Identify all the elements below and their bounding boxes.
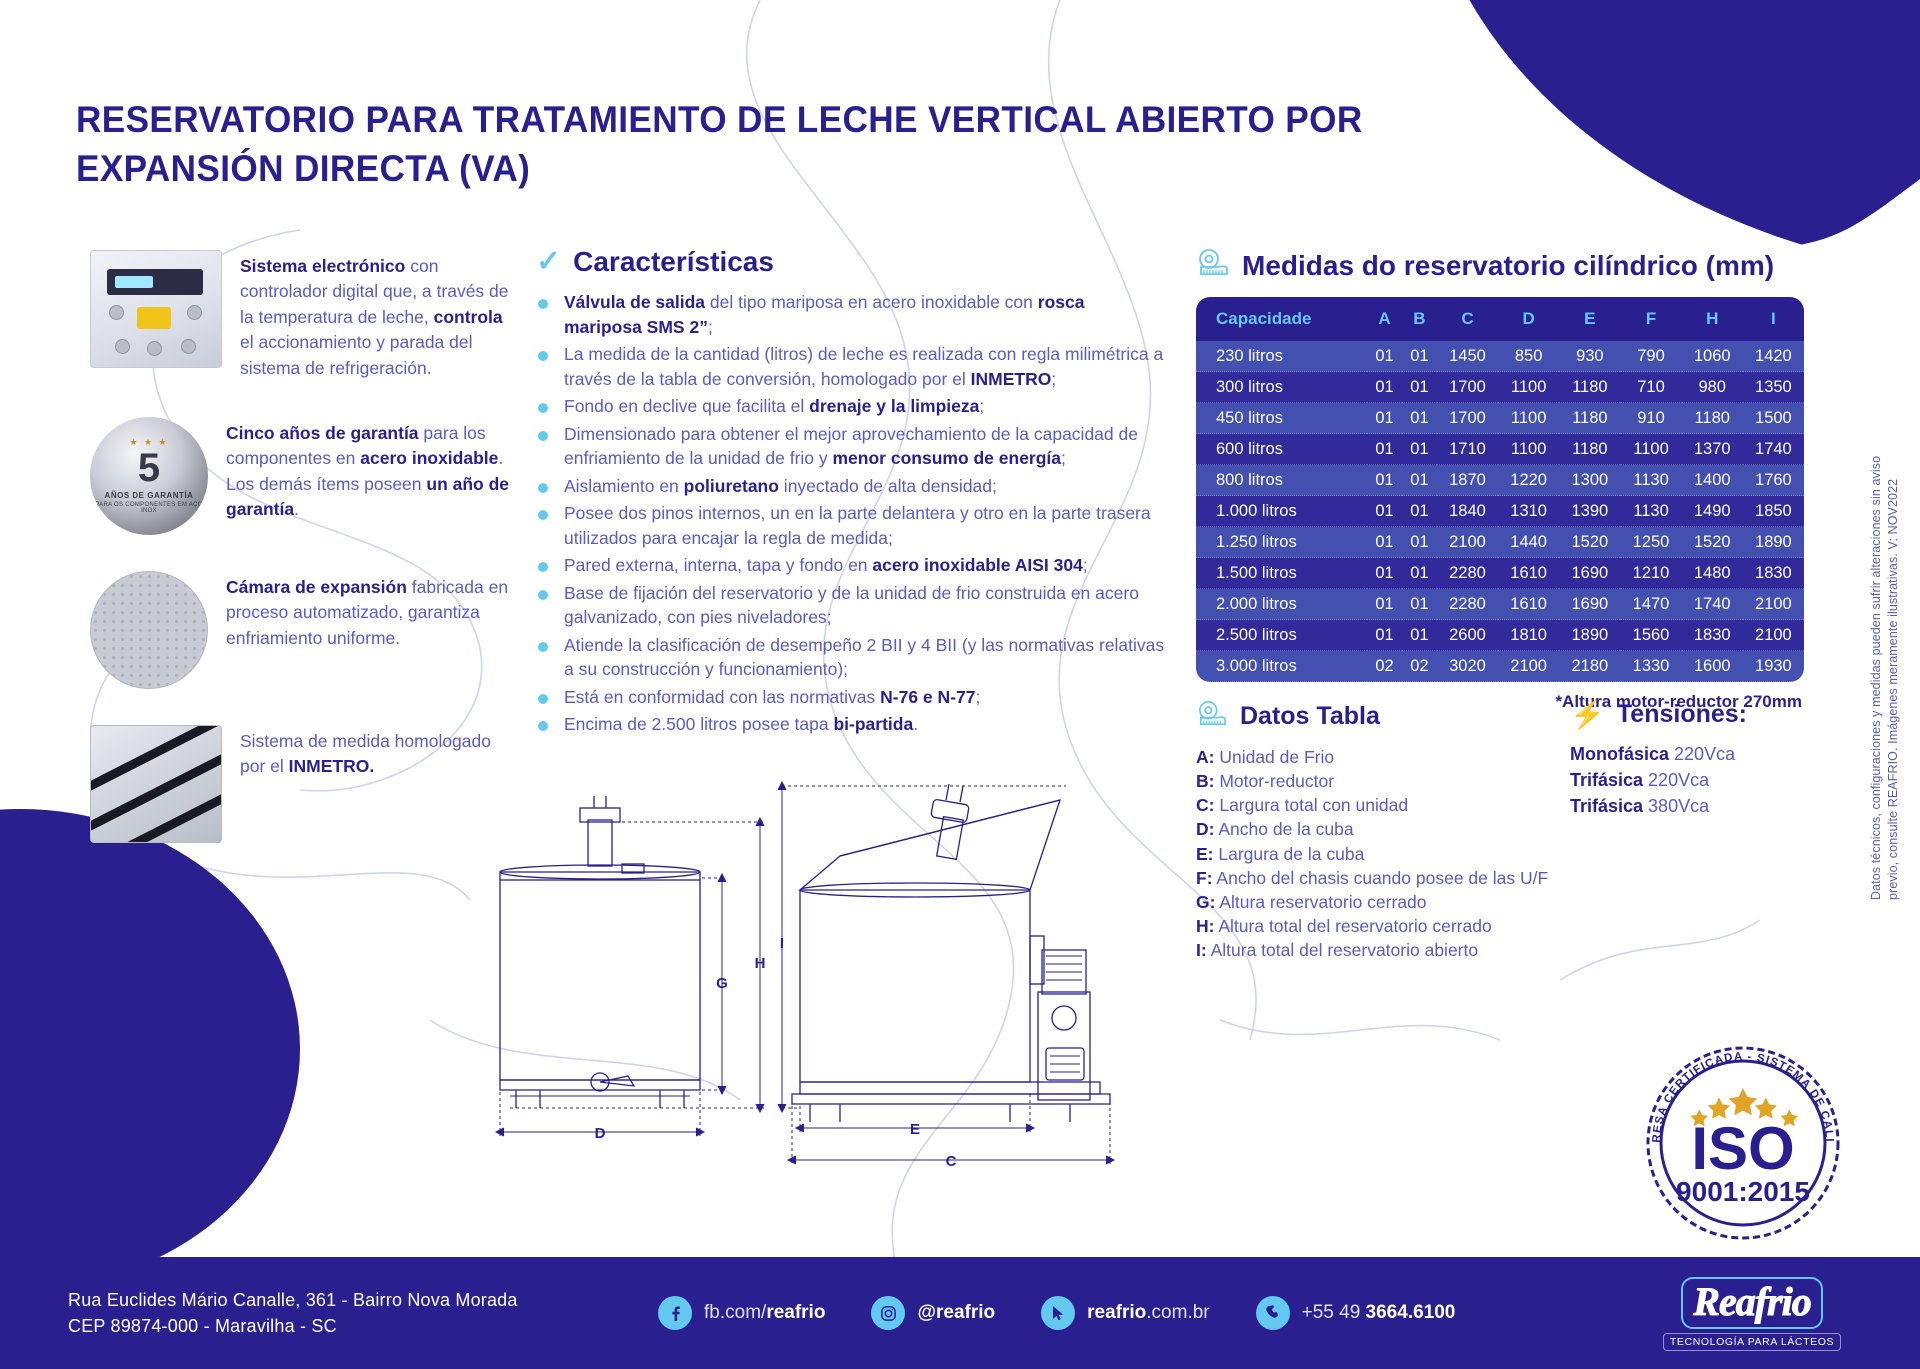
table-cell: 1100 [1498, 403, 1559, 434]
table-cell-capacity: 300 litros [1196, 372, 1367, 403]
characteristic-item: Encima de 2.500 litros posee tapa bi-par… [536, 712, 1166, 737]
table-column-header: A [1367, 297, 1402, 341]
datasheet-page: RESERVATORIO PARA TRATAMIENTO DE LECHE V… [0, 0, 1920, 1369]
table-cell-capacity: 450 litros [1196, 403, 1367, 434]
check-icon: ✓ [536, 247, 561, 277]
table-row: 2.500 litros0101260018101890156018302100 [1196, 620, 1804, 651]
social-prefix: fb.com/ [704, 1302, 766, 1323]
dimension-H [510, 818, 764, 1112]
tape-measure-icon [1196, 248, 1230, 283]
legend-key: B: [1196, 771, 1214, 791]
table-row: 3.000 litros0202302021002180133016001930 [1196, 651, 1804, 682]
table-cell: 01 [1367, 465, 1402, 496]
label-D: D [595, 1125, 606, 1142]
table-cell: 2180 [1559, 651, 1620, 682]
table-cell: 1330 [1620, 651, 1681, 682]
phone-icon[interactable] [1256, 1296, 1290, 1330]
table-cell: 980 [1682, 372, 1743, 403]
medal-number: 5 [138, 448, 160, 488]
table-cell: 1560 [1620, 620, 1681, 651]
features-column: Sistema electrónico con controlador digi… [90, 250, 520, 879]
table-cell-capacity: 800 litros [1196, 465, 1367, 496]
table-cell: 930 [1559, 341, 1620, 372]
tension-item: Trifásica 380Vca [1570, 793, 1870, 819]
table-cell: 1500 [1743, 403, 1804, 434]
table-cell: 01 [1367, 527, 1402, 558]
table-row: 1.000 litros0101184013101390113014901850 [1196, 496, 1804, 527]
table-cell: 1480 [1682, 558, 1743, 589]
table-row: 450 litros010117001100118091011801500 [1196, 403, 1804, 434]
table-cell: 1370 [1682, 434, 1743, 465]
table-cell: 1610 [1498, 589, 1559, 620]
table-cell: 01 [1367, 496, 1402, 527]
feature-text: Cinco años de garantía para los componen… [226, 417, 520, 523]
table-column-header: D [1498, 297, 1559, 341]
table-cell: 01 [1367, 620, 1402, 651]
table-cell: 1180 [1559, 434, 1620, 465]
legend-text: Ancho de la cuba [1214, 819, 1353, 839]
legend-key: F: [1196, 868, 1213, 888]
table-column-header: C [1437, 297, 1498, 341]
table-cell: 02 [1367, 651, 1402, 682]
legend-text: Ancho del chasis cuando posee de las U/F [1213, 868, 1549, 888]
datos-tabla-legend: A: Unidad de FrioB: Motor-reductorC: Lar… [1196, 745, 1556, 962]
table-cell: 01 [1367, 558, 1402, 589]
table-cell: 850 [1498, 341, 1559, 372]
characteristic-item: Fondo en declive que facilita el drenaje… [536, 394, 1166, 419]
logo-pill: Reafrio [1681, 1277, 1822, 1329]
table-cell: 2280 [1437, 589, 1498, 620]
technical-drawing: G H D [470, 760, 1210, 1185]
tensiones-header: ⚡ Tensiones: [1570, 700, 1870, 729]
legend-key: H: [1196, 916, 1214, 936]
iso-label: ISO [1691, 1115, 1794, 1182]
tension-item: Monofásica 220Vca [1570, 741, 1870, 767]
table-cell: 2600 [1437, 620, 1498, 651]
dimension-I [778, 782, 1066, 1112]
table-cell: 1450 [1437, 341, 1498, 372]
feature-text: Sistema de medida homologado por el INME… [240, 725, 520, 780]
table-cell: 1420 [1743, 341, 1804, 372]
tension-label: Trifásica [1570, 796, 1643, 816]
decorative-blob-top-right [1420, 0, 1920, 280]
table-cell: 1300 [1559, 465, 1620, 496]
table-cell-capacity: 1.500 litros [1196, 558, 1367, 589]
table-cell: 790 [1620, 341, 1681, 372]
datos-tabla-section: Datos Tabla A: Unidad de FrioB: Motor-re… [1196, 700, 1556, 962]
table-cell: 1310 [1498, 496, 1559, 527]
tension-label: Trifásica [1570, 770, 1643, 790]
table-cell: 1830 [1682, 620, 1743, 651]
legend-text: Unidad de Frio [1214, 747, 1334, 767]
table-cell: 1390 [1559, 496, 1620, 527]
table-cell: 1610 [1498, 558, 1559, 589]
social-handle: reafrio [1087, 1302, 1146, 1323]
label-E: E [910, 1121, 920, 1138]
characteristics-list: Válvula de salida del tipo mariposa en a… [536, 290, 1166, 737]
address-line-1: Rua Euclides Mário Canalle, 361 - Bairro… [68, 1287, 588, 1313]
social-link-instagram[interactable]: @reafrio [871, 1296, 995, 1330]
table-cell: 2100 [1498, 651, 1559, 682]
table-cell: 01 [1367, 434, 1402, 465]
table-cell: 1180 [1682, 403, 1743, 434]
social-link-facebook[interactable]: fb.com/reafrio [658, 1296, 825, 1330]
logo-tagline: TECNOLOGÍA PARA LÁCTEOS [1663, 1333, 1841, 1351]
legend-text: Largura total con unidad [1214, 795, 1408, 815]
table-cell: 2100 [1437, 527, 1498, 558]
table-cell: 1520 [1559, 527, 1620, 558]
table-cell: 1870 [1437, 465, 1498, 496]
tensiones-section: ⚡ Tensiones: Monofásica 220VcaTrifásica … [1570, 700, 1870, 819]
legend-key: A: [1196, 747, 1214, 767]
table-cell: 1210 [1620, 558, 1681, 589]
table-cell: 02 [1402, 651, 1437, 682]
table-header-row: CapacidadeABCDEFHI [1196, 297, 1804, 341]
measures-header: Medidas do reservatorio cilíndrico (mm) [1196, 248, 1816, 283]
table-column-header: I [1743, 297, 1804, 341]
social-link-phone[interactable]: +55 49 3664.6100 [1256, 1296, 1456, 1330]
measures-table: CapacidadeABCDEFHI 230 litros01011450850… [1196, 297, 1804, 682]
characteristic-item: Atiende la clasificación de desempeño 2 … [536, 633, 1166, 682]
table-cell: 1740 [1743, 434, 1804, 465]
social-handle: reafrio [766, 1302, 825, 1323]
brand-logo: Reafrio TECNOLOGÍA PARA LÁCTEOS [1662, 1277, 1842, 1351]
social-link-label[interactable]: fb.com/reafrio [704, 1302, 825, 1324]
measures-section: Medidas do reservatorio cilíndrico (mm) … [1196, 248, 1816, 712]
tension-value: 220Vca [1643, 770, 1709, 790]
table-cell-capacity: 2.000 litros [1196, 589, 1367, 620]
table-cell: 01 [1402, 496, 1437, 527]
social-link-label[interactable]: +55 49 3664.6100 [1302, 1302, 1456, 1324]
legend-text: Motor-reductor [1214, 771, 1334, 791]
legend-item: G: Altura reservatorio cerrado [1196, 890, 1556, 914]
label-G: G [716, 975, 728, 992]
feature-measure-system: Sistema de medida homologado por el INME… [90, 725, 520, 843]
cursor-icon[interactable] [1041, 1296, 1075, 1330]
table-cell: 1180 [1559, 403, 1620, 434]
table-column-header: B [1402, 297, 1437, 341]
legend-item: H: Altura total del reservatorio cerrado [1196, 914, 1556, 938]
table-cell: 01 [1402, 620, 1437, 651]
table-cell: 1700 [1437, 403, 1498, 434]
section-title: Datos Tabla [1240, 702, 1380, 731]
social-link-label[interactable]: @reafrio [917, 1302, 995, 1324]
table-cell: 1830 [1743, 558, 1804, 589]
table-cell: 710 [1620, 372, 1681, 403]
table-cell-capacity: 600 litros [1196, 434, 1367, 465]
social-prefix: +55 49 [1302, 1302, 1366, 1323]
tape-measure-icon [1196, 700, 1228, 733]
table-row: 230 litros0101145085093079010601420 [1196, 341, 1804, 372]
table-cell: 1220 [1498, 465, 1559, 496]
tension-value: 220Vca [1669, 744, 1735, 764]
digital-controller-photo-icon [90, 250, 222, 368]
characteristic-item: Base de fijación del reservatorio y de l… [536, 581, 1166, 630]
characteristic-item: Está en conformidad con las normativas N… [536, 685, 1166, 710]
table-row: 1.500 litros0101228016101690121014801830 [1196, 558, 1804, 589]
datos-tabla-header: Datos Tabla [1196, 700, 1556, 733]
social-suffix: .com.br [1146, 1302, 1209, 1323]
table-column-header: Capacidade [1196, 297, 1367, 341]
five-year-warranty-medal-icon: ★ ★ ★ 5 AÑOS DE GARANTÍA PARA OS COMPONE… [90, 417, 208, 535]
social-handle: @reafrio [917, 1302, 995, 1323]
section-title: Medidas do reservatorio cilíndrico (mm) [1242, 250, 1774, 282]
table-cell: 01 [1402, 372, 1437, 403]
table-cell: 01 [1367, 372, 1402, 403]
table-cell: 1100 [1498, 434, 1559, 465]
table-row: 600 litros0101171011001180110013701740 [1196, 434, 1804, 465]
iso-certification-seal: EMPRESA CERTIFICADA - SISTEMA DE CALIDAD… [1638, 1038, 1848, 1248]
feature-electronic-system: Sistema electrónico con controlador digi… [90, 250, 520, 381]
characteristic-item: Pared externa, interna, tapa y fondo en … [536, 553, 1166, 578]
table-cell-capacity: 1.250 litros [1196, 527, 1367, 558]
legend-item: B: Motor-reductor [1196, 769, 1556, 793]
table-row: 800 litros0101187012201300113014001760 [1196, 465, 1804, 496]
measure-ruler-photo-icon [90, 725, 222, 843]
table-cell: 2100 [1743, 589, 1804, 620]
tension-value: 380Vca [1643, 796, 1709, 816]
feature-text: Cámara de expansión fabricada en proceso… [226, 571, 520, 651]
table-cell: 1130 [1620, 496, 1681, 527]
legend-text: Altura reservatorio cerrado [1215, 892, 1426, 912]
table-cell: 1930 [1743, 651, 1804, 682]
tension-label: Monofásica [1570, 744, 1669, 764]
page-title: RESERVATORIO PARA TRATAMIENTO DE LECHE V… [76, 96, 1482, 194]
table-cell: 1690 [1559, 589, 1620, 620]
instagram-icon[interactable] [871, 1296, 905, 1330]
legend-item: C: Largura total con unidad [1196, 793, 1556, 817]
table-row: 1.250 litros0101210014401520125015201890 [1196, 527, 1804, 558]
legend-key: E: [1196, 844, 1214, 864]
table-cell: 910 [1620, 403, 1681, 434]
table-cell: 01 [1402, 558, 1437, 589]
legend-item: D: Ancho de la cuba [1196, 817, 1556, 841]
characteristic-item: La medida de la cantidad (litros) de lec… [536, 342, 1166, 391]
table-cell: 01 [1402, 527, 1437, 558]
legend-text: Altura total del reservatorio cerrado [1214, 916, 1491, 936]
table-body: 230 litros0101145085093079010601420300 l… [1196, 341, 1804, 682]
drawing-open-tank [792, 784, 1110, 1122]
legend-key: C: [1196, 795, 1214, 815]
footer-social-links: fb.com/reafrio@reafrioreafrio.com.br+55 … [658, 1296, 1455, 1330]
table-cell: 3020 [1437, 651, 1498, 682]
table-cell: 01 [1367, 403, 1402, 434]
table-cell: 1400 [1682, 465, 1743, 496]
table-cell: 1690 [1559, 558, 1620, 589]
logo-wordmark: Reafrio [1693, 1282, 1810, 1322]
medal-line-2: PARA OS COMPONENTES EM AÇO INOX [90, 502, 208, 514]
table-column-header: F [1620, 297, 1681, 341]
legend-key: G: [1196, 892, 1215, 912]
disclaimer-text: Datos técnicos, configuraciones y medida… [1868, 440, 1902, 900]
table-cell: 01 [1367, 589, 1402, 620]
table-cell-capacity: 2.500 litros [1196, 620, 1367, 651]
table-cell: 1130 [1620, 465, 1681, 496]
characteristic-item: Válvula de salida del tipo mariposa en a… [536, 290, 1166, 339]
feature-text: Sistema electrónico con controlador digi… [240, 250, 520, 381]
table-cell: 1520 [1682, 527, 1743, 558]
drawing-closed-tank [500, 796, 700, 1108]
characteristics-header: ✓ Características [536, 246, 1166, 278]
table-cell: 1060 [1682, 341, 1743, 372]
table-cell: 1470 [1620, 589, 1681, 620]
table-cell: 1760 [1743, 465, 1804, 496]
table-cell: 1180 [1559, 372, 1620, 403]
social-link-cursor[interactable]: reafrio.com.br [1041, 1296, 1210, 1330]
section-title: Características [573, 246, 774, 278]
table-cell: 01 [1402, 434, 1437, 465]
table-cell: 1890 [1743, 527, 1804, 558]
tensiones-list: Monofásica 220VcaTrifásica 220VcaTrifási… [1570, 741, 1870, 819]
table-cell: 01 [1402, 465, 1437, 496]
label-C: C [946, 1153, 957, 1170]
table-cell: 1490 [1682, 496, 1743, 527]
characteristic-item: Dimensionado para obtener el mejor aprov… [536, 422, 1166, 471]
footer-bar: Rua Euclides Mário Canalle, 361 - Bairro… [0, 1257, 1920, 1369]
table-cell: 01 [1402, 341, 1437, 372]
feature-warranty: ★ ★ ★ 5 AÑOS DE GARANTÍA PARA OS COMPONE… [90, 417, 520, 535]
legend-item: F: Ancho del chasis cuando posee de las … [1196, 866, 1556, 890]
table-cell-capacity: 230 litros [1196, 341, 1367, 372]
tension-item: Trifásica 220Vca [1570, 767, 1870, 793]
table-cell: 1700 [1437, 372, 1498, 403]
iso-standard: 9001:2015 [1676, 1176, 1810, 1207]
table-cell: 1810 [1498, 620, 1559, 651]
expansion-chamber-photo-icon [90, 571, 208, 689]
footer-address: Rua Euclides Mário Canalle, 361 - Bairro… [68, 1287, 588, 1339]
table-cell-capacity: 1.000 litros [1196, 496, 1367, 527]
facebook-icon[interactable] [658, 1296, 692, 1330]
characteristics-section: ✓ Características Válvula de salida del … [536, 246, 1166, 740]
social-handle: 3664.6100 [1366, 1302, 1456, 1323]
legend-key: I: [1196, 940, 1207, 960]
table-cell: 1100 [1620, 434, 1681, 465]
table-cell: 1710 [1437, 434, 1498, 465]
table-column-header: H [1682, 297, 1743, 341]
address-line-2: CEP 89874-000 - Maravilha - SC [68, 1313, 588, 1339]
table-cell: 2280 [1437, 558, 1498, 589]
legend-item: E: Largura de la cuba [1196, 842, 1556, 866]
characteristic-item: Aislamiento en poliuretano inyectado de … [536, 474, 1166, 499]
table-cell: 01 [1402, 403, 1437, 434]
table-cell: 1350 [1743, 372, 1804, 403]
bolt-icon: ⚡ [1570, 701, 1605, 729]
table-cell: 1100 [1498, 372, 1559, 403]
legend-text: Altura total del reservatorio abierto [1207, 940, 1478, 960]
table-column-header: E [1559, 297, 1620, 341]
label-H: H [755, 955, 766, 972]
label-I: I [780, 935, 784, 952]
table-cell: 01 [1367, 341, 1402, 372]
table-cell: 2100 [1743, 620, 1804, 651]
table-cell: 1250 [1620, 527, 1681, 558]
table-cell: 1740 [1682, 589, 1743, 620]
table-row: 2.000 litros0101228016101690147017402100 [1196, 589, 1804, 620]
section-title: Tensiones: [1617, 700, 1747, 729]
legend-item: A: Unidad de Frio [1196, 745, 1556, 769]
table-row: 300 litros01011700110011807109801350 [1196, 372, 1804, 403]
table-cell: 1840 [1437, 496, 1498, 527]
medal-line-1: AÑOS DE GARANTÍA [105, 491, 194, 500]
table-cell: 01 [1402, 589, 1437, 620]
table-cell: 1890 [1559, 620, 1620, 651]
table-cell-capacity: 3.000 litros [1196, 651, 1367, 682]
characteristic-item: Posee dos pinos internos, un en la parte… [536, 501, 1166, 550]
legend-key: D: [1196, 819, 1214, 839]
feature-expansion-chamber: Cámara de expansión fabricada en proceso… [90, 571, 520, 689]
table-cell: 1850 [1743, 496, 1804, 527]
table-cell: 1600 [1682, 651, 1743, 682]
table-cell: 1440 [1498, 527, 1559, 558]
legend-text: Largura de la cuba [1214, 844, 1365, 864]
social-link-label[interactable]: reafrio.com.br [1087, 1302, 1210, 1324]
legend-item: I: Altura total del reservatorio abierto [1196, 938, 1556, 962]
